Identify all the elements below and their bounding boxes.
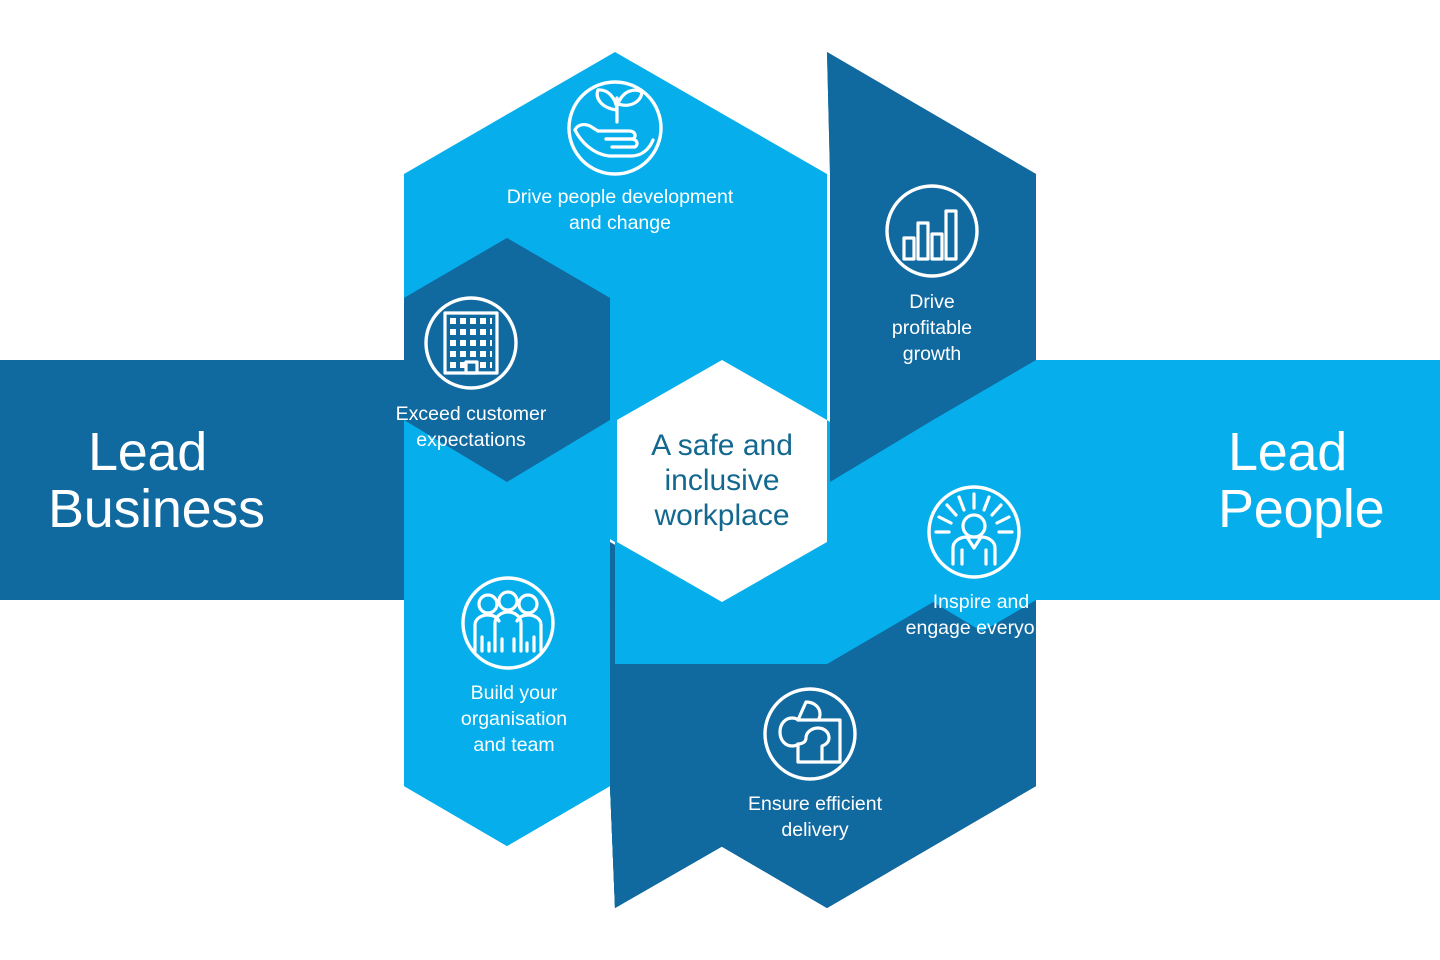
lead-business-label-line2: Business: [48, 479, 265, 539]
lead-people-label-line2: People: [1218, 479, 1384, 539]
lead-business-label-line1: Lead: [88, 422, 207, 482]
lead-people-label-line1: Lead: [1228, 422, 1347, 482]
node-3-label-line1: Exceed customer: [396, 403, 547, 425]
center-line-2: inclusive: [664, 464, 779, 497]
node-6-label-line2: delivery: [781, 819, 848, 841]
node-6-label-line1: Ensure efficient: [748, 793, 883, 815]
center-line-1: A safe and: [651, 429, 793, 462]
node-1-label-line2: and change: [569, 212, 671, 234]
infographic-canvas: Lead Business Lead People A safe and inc…: [0, 0, 1440, 960]
node-3-label-line2: expectations: [416, 429, 526, 451]
node-2-label-line1: Drive: [909, 291, 955, 313]
center-line-3: workplace: [653, 499, 789, 532]
leadership-framework-diagram: Lead Business Lead People A safe and inc…: [0, 0, 1440, 960]
node-5-label-line3: and team: [473, 734, 554, 756]
node-4-label-line1: Inspire and: [933, 591, 1029, 613]
node-4-label-line2: engage everyone: [906, 617, 1057, 639]
center-message-group: A safe and inclusive workplace: [651, 429, 793, 532]
node-1-label-line1: Drive people development: [507, 186, 734, 208]
node-2-label-line2: profitable: [892, 317, 972, 339]
node-5-label-line1: Build your: [471, 682, 558, 704]
node-2-label-line3: growth: [903, 343, 962, 365]
node-5-label-line2: organisation: [461, 708, 567, 730]
